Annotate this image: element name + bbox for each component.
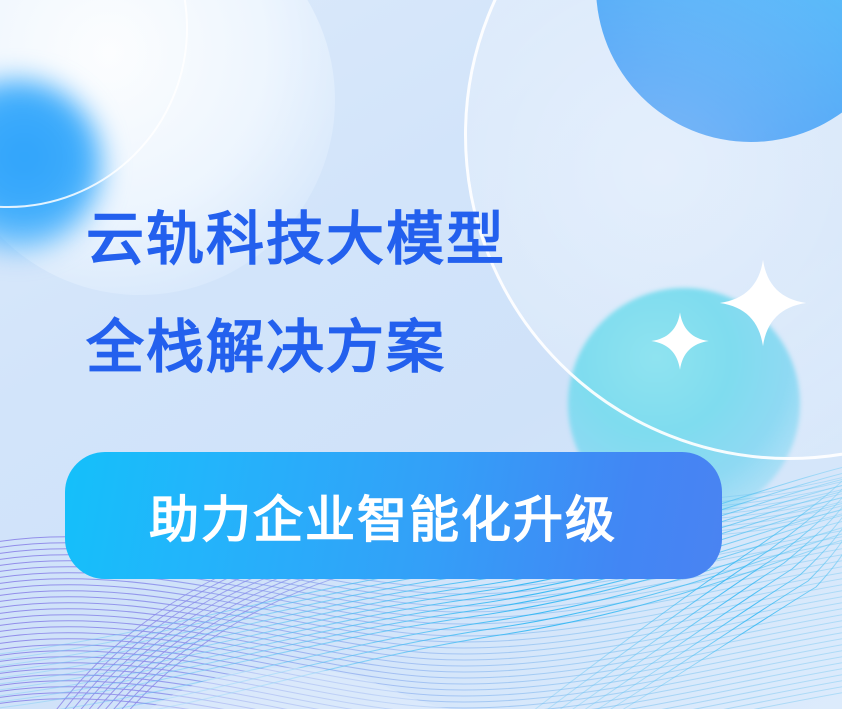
cta-pill-label: 助力企业智能化升级 <box>149 480 617 552</box>
white-ring-large-decoration <box>464 0 842 460</box>
promo-banner: 云轨科技大模型 全栈解决方案 助力企业智能化升级 <box>0 0 842 709</box>
white-ring-large-fill-decoration <box>467 0 842 457</box>
blue-blob-top-right-decoration <box>596 0 842 142</box>
headline-line-1: 云轨科技大模型 <box>86 186 506 294</box>
headline: 云轨科技大模型 全栈解决方案 <box>86 186 506 402</box>
headline-line-2: 全栈解决方案 <box>86 294 506 402</box>
sparkle-star-small-icon <box>650 311 710 371</box>
sparkle-star-large-icon <box>718 258 808 348</box>
white-arc-left-decoration <box>0 0 188 208</box>
cta-pill-button[interactable]: 助力企业智能化升级 <box>65 452 722 579</box>
